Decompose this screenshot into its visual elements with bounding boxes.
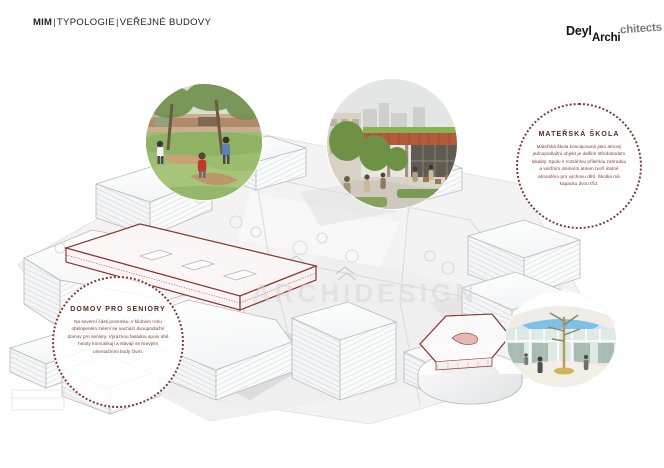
presentation-slide: MIM|TYPOLOGIE|VEŘEJNÉ BUDOVY Deyl Archi … xyxy=(0,0,664,468)
page-title: MIM|TYPOLOGIE|VEŘEJNÉ BUDOVY xyxy=(33,17,211,28)
brand-label: MIM xyxy=(33,17,52,28)
topic-label: VEŘEJNÉ BUDOVY xyxy=(120,17,211,28)
info-bubble-seniors[interactable]: DOMOV PRO SENIORY Na severní části pozem… xyxy=(52,276,184,408)
bubble-body-kindergarten: Mateřská škola koncipovaná jako atriový … xyxy=(530,143,628,188)
photo-public-plaza xyxy=(327,79,457,209)
photo-school-yard xyxy=(146,84,262,200)
section-label: TYPOLOGIE xyxy=(57,17,115,28)
logo-primary-text: Deyl xyxy=(566,24,592,38)
plan-watermark: ARCHIDESIGN xyxy=(252,278,478,309)
logo-secondary-text: Archi xyxy=(592,32,620,44)
bubble-title-seniors: DOMOV PRO SENIORY xyxy=(70,306,165,313)
info-bubble-kindergarten[interactable]: MATEŘSKÁ ŠKOLA Mateřská škola koncipovan… xyxy=(516,103,642,229)
photo-glazed-atrium xyxy=(506,291,616,387)
bubble-title-kindergarten: MATEŘSKÁ ŠKOLA xyxy=(539,131,620,138)
building-block-9 xyxy=(292,302,396,400)
logo-tail-text: chitects xyxy=(620,22,663,37)
bubble-body-seniors: Na severní části pozemku, v klidném rohu… xyxy=(66,318,170,355)
studio-logo: Deyl Archi chitects xyxy=(532,16,652,52)
